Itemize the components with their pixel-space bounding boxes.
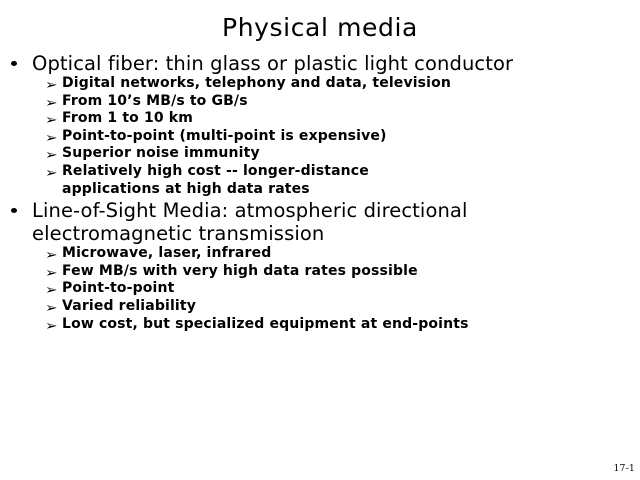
bullet-dot-icon bbox=[11, 208, 17, 213]
level2-bullet-text: Few MB/s with very high data rates possi… bbox=[62, 263, 640, 281]
level2-bullet-text: Relatively high cost -- longer-distance … bbox=[62, 163, 640, 198]
level2-bullet-text: Microwave, laser, infrared bbox=[62, 245, 640, 263]
level2-bullet-text: Low cost, but specialized equipment at e… bbox=[62, 316, 640, 334]
arrow-bullet-icon: ➢ bbox=[45, 165, 58, 183]
page-number: 17-1 bbox=[614, 464, 635, 474]
level2-bullet-text: Superior noise immunity bbox=[62, 145, 640, 163]
level1-bullet-item: Line-of-Sight Media: atmospheric directi… bbox=[0, 199, 640, 245]
level1-bullet-text: Optical fiber: thin glass or plastic lig… bbox=[32, 52, 640, 75]
level2-bullet-text: Point-to-point (multi-point is expensive… bbox=[62, 128, 640, 146]
page-title: Physical media bbox=[0, 13, 640, 43]
bullet-dot-icon bbox=[11, 61, 17, 66]
level1-bullet-text: Line-of-Sight Media: atmospheric directi… bbox=[32, 199, 640, 245]
level2-list: ➢ Digital networks, telephony and data, … bbox=[0, 75, 640, 198]
level2-list: ➢ Microwave, laser, infrared ➢ Few MB/s … bbox=[0, 245, 640, 333]
level2-bullet-text: From 10’s MB/s to GB/s bbox=[62, 93, 640, 111]
level2-bullet-item: ➢ Relatively high cost -- longer-distanc… bbox=[0, 163, 640, 198]
bullet-group: Line-of-Sight Media: atmospheric directi… bbox=[0, 199, 640, 333]
level2-bullet-item: ➢ From 1 to 10 km bbox=[0, 110, 640, 128]
level1-bullet-item: Optical fiber: thin glass or plastic lig… bbox=[0, 52, 640, 75]
level2-bullet-item: ➢ Superior noise immunity bbox=[0, 145, 640, 163]
level2-bullet-item: ➢ Varied reliability bbox=[0, 298, 640, 316]
level2-bullet-item: ➢ Low cost, but specialized equipment at… bbox=[0, 316, 640, 334]
level2-bullet-item: ➢ Point-to-point bbox=[0, 280, 640, 298]
slide-canvas: Physical media Optical fiber: thin glass… bbox=[0, 0, 640, 480]
arrow-bullet-icon: ➢ bbox=[45, 318, 58, 336]
level2-bullet-item: ➢ Few MB/s with very high data rates pos… bbox=[0, 263, 640, 281]
bullet-group: Optical fiber: thin glass or plastic lig… bbox=[0, 52, 640, 198]
slide-body: Optical fiber: thin glass or plastic lig… bbox=[0, 52, 640, 333]
level2-bullet-text: Varied reliability bbox=[62, 298, 640, 316]
level2-bullet-text: From 1 to 10 km bbox=[62, 110, 640, 128]
level2-bullet-item: ➢ Digital networks, telephony and data, … bbox=[0, 75, 640, 93]
level2-bullet-item: ➢ Microwave, laser, infrared bbox=[0, 245, 640, 263]
level2-bullet-text: Point-to-point bbox=[62, 280, 640, 298]
level2-bullet-item: ➢ Point-to-point (multi-point is expensi… bbox=[0, 128, 640, 146]
level2-bullet-item: ➢ From 10’s MB/s to GB/s bbox=[0, 93, 640, 111]
level2-bullet-text: Digital networks, telephony and data, te… bbox=[62, 75, 640, 93]
